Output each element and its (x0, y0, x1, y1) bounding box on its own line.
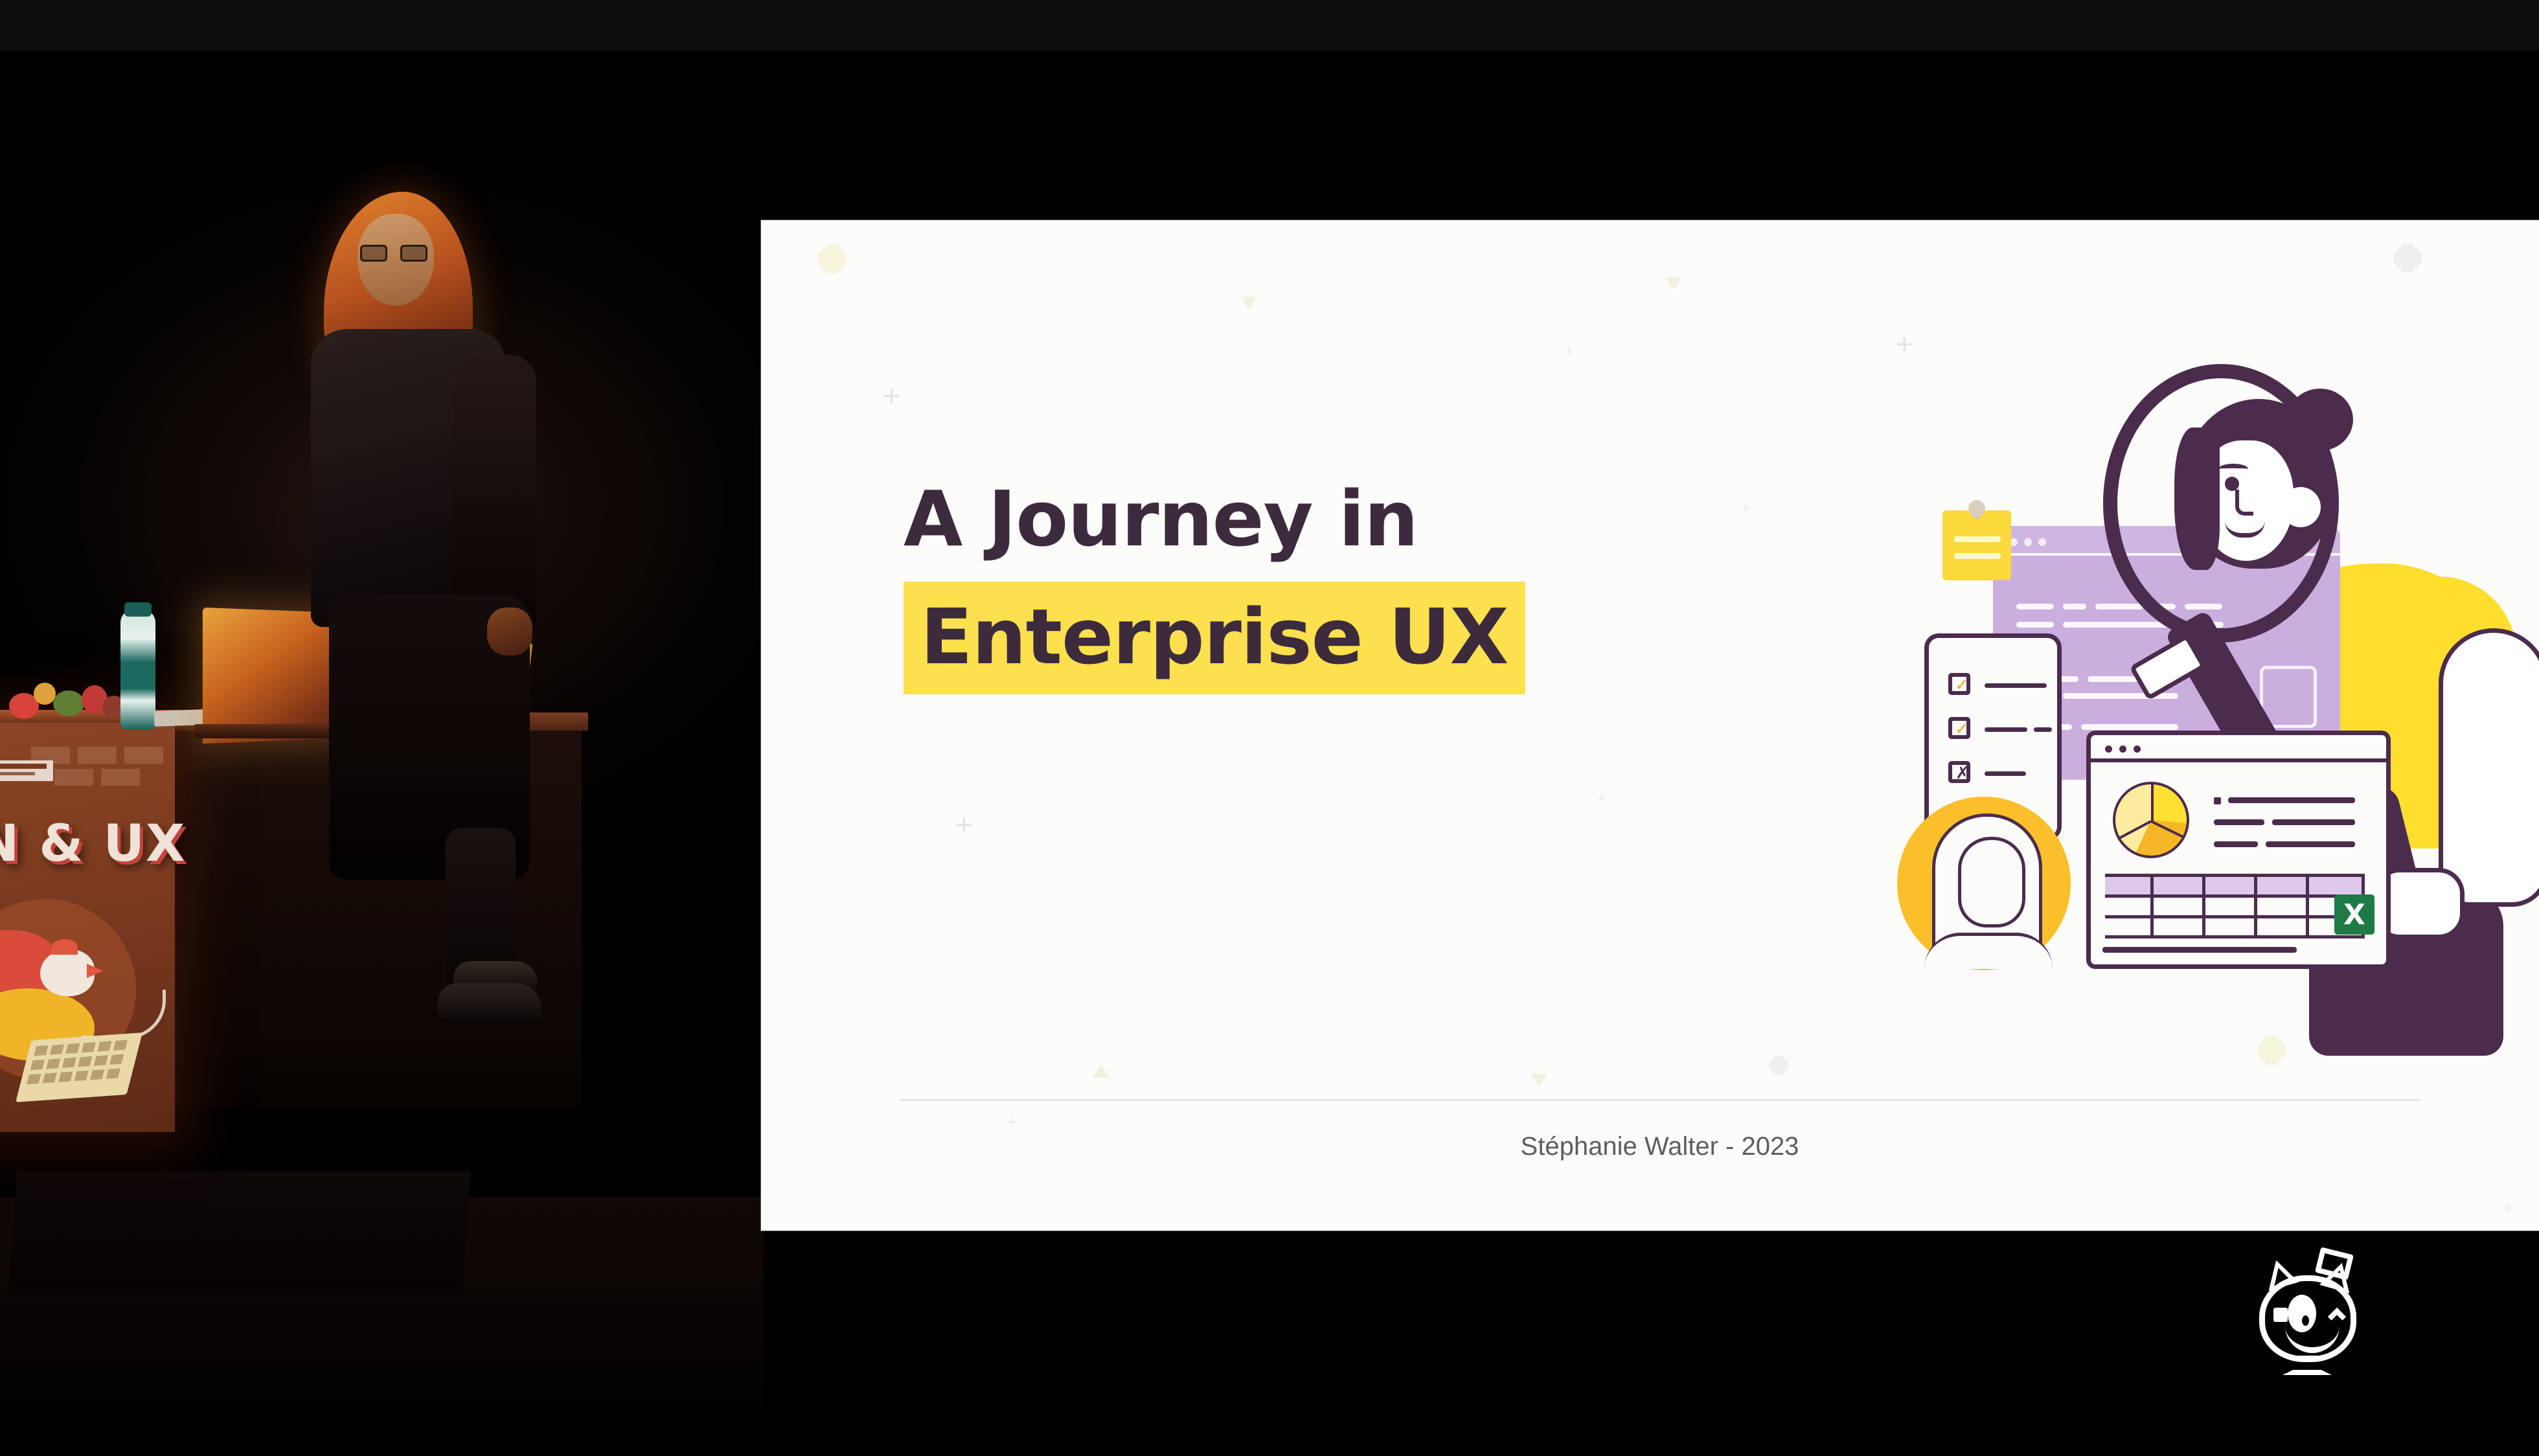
plus-mark-icon: + (883, 381, 900, 411)
title-line-1: A Journey in (904, 479, 1525, 560)
podium-mascot-art (0, 893, 168, 1100)
puzzle-piece-icon (2393, 244, 2422, 272)
screen-recording-frame: N & UX (0, 0, 2539, 1456)
magnifier-lens-icon (2103, 364, 2339, 643)
puzzle-piece-icon (2257, 1036, 2286, 1065)
hat-icon (2315, 1247, 2354, 1280)
cat-face-logo-icon (2248, 1253, 2371, 1383)
podium-banner-text: N & UX (0, 815, 171, 873)
desk-flowers (5, 674, 135, 732)
plus-mark-icon: + (1597, 790, 1606, 807)
slide-title: A Journey in Enterprise UX (904, 479, 1525, 694)
plus-mark-icon: + (1740, 499, 1750, 516)
ux-research-illustration: ✓ ✓ ✗ (1920, 350, 2539, 1036)
podium-grid-decor (31, 747, 172, 787)
triangle-mark-icon (1531, 1074, 1547, 1087)
stage-monitor-box (8, 1171, 470, 1294)
slide-divider (900, 1099, 2419, 1101)
sticky-note-icon (1942, 510, 2011, 580)
plus-mark-icon: + (1007, 1114, 1017, 1131)
triangle-mark-icon (1240, 297, 1257, 310)
data-table (2105, 874, 2364, 938)
avatar-shoulders (1924, 933, 2053, 969)
avatar-face (1958, 837, 2025, 927)
title-highlight-box: Enterprise UX (904, 582, 1525, 694)
plus-mark-icon: + (1564, 343, 1574, 360)
presenter-glasses (360, 245, 430, 262)
excel-badge-icon: X (2334, 894, 2374, 935)
presenter-hand (487, 608, 532, 655)
title-line-2: Enterprise UX (920, 598, 1509, 675)
triangle-mark-icon (1093, 1065, 1110, 1078)
presenter-arm (453, 355, 536, 633)
slide-credit: Stéphanie Walter - 2023 (900, 1132, 2419, 1161)
puzzle-piece-icon (818, 245, 847, 273)
presenter-shoe-front (438, 983, 541, 1021)
bottle-cap (124, 602, 152, 617)
water-bottle (120, 609, 155, 729)
plus-mark-icon: + (1896, 329, 1913, 359)
figure-arm (2439, 628, 2539, 907)
puzzle-piece-icon (1769, 1056, 1788, 1075)
stage-photo: N & UX (0, 51, 764, 1430)
plus-mark-icon: + (955, 810, 973, 839)
letterbox-bottom (0, 1430, 2539, 1456)
dashboard-window: X (2086, 731, 2391, 969)
triangle-mark-icon (1665, 277, 1682, 290)
pie-chart (2113, 782, 2189, 858)
presentation-slide: + + + + + + + + + + A Journey in Enterpr… (761, 220, 2539, 1231)
letterbox-top (0, 0, 2539, 51)
pushpin-icon (1968, 500, 1985, 517)
plus-mark-icon: + (2503, 1200, 2513, 1216)
bowtie-icon (2283, 1356, 2332, 1375)
window-titlebar (2091, 735, 2386, 762)
window-footer-line (2102, 947, 2297, 953)
